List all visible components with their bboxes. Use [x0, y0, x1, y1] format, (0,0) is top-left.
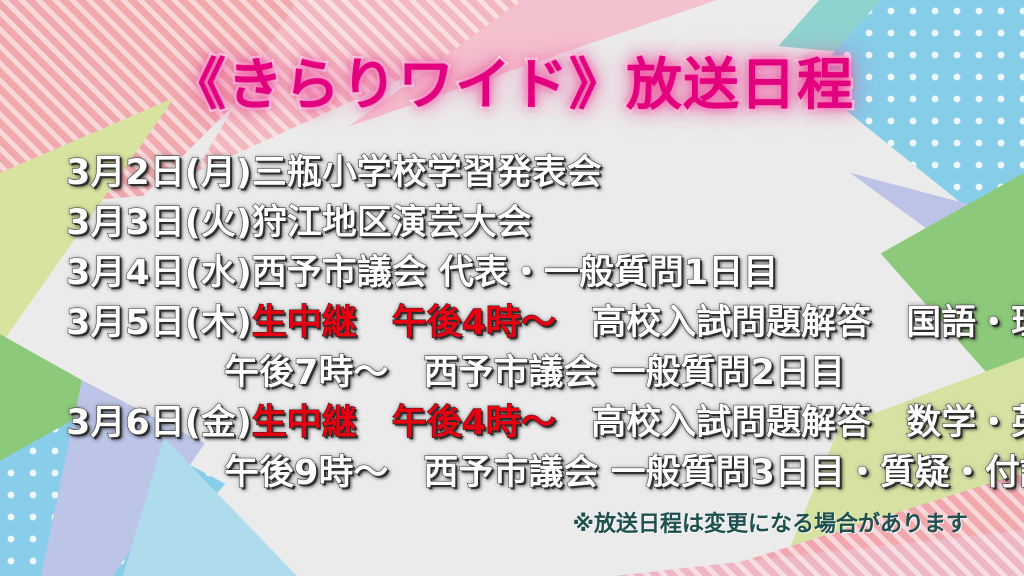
schedule-line: 3月5日(木)生中継 午後4時〜 高校入試問題解答 国語・理科・社会	[0, 298, 1024, 348]
schedule-line: 午後7時〜 西予市議会 一般質問2日目	[0, 348, 1024, 398]
page-title: 《きらりワイド》放送日程	[0, 40, 1024, 121]
schedule-text: 3月3日(火)狩江地区演芸大会	[66, 203, 532, 243]
schedule-line: 3月2日(月)三瓶小学校学習発表会	[0, 148, 1024, 198]
schedule-text: 3月5日(木)	[66, 303, 252, 343]
broadcast-schedule-slide: 《きらりワイド》放送日程 3月2日(月)三瓶小学校学習発表会3月3日(火)狩江地…	[0, 0, 1024, 576]
schedule-text: 3月2日(月)三瓶小学校学習発表会	[66, 153, 602, 193]
schedule-line: 3月4日(水)西予市議会 代表・一般質問1日目	[0, 248, 1024, 298]
live-broadcast-label: 生中継 午後4時〜	[252, 303, 556, 343]
footnote-note: ※放送日程は変更になる場合があります	[573, 506, 968, 538]
schedule-line: 3月6日(金)生中継 午後4時〜 高校入試問題解答 数学・英語	[0, 398, 1024, 448]
schedule-text: 3月4日(水)西予市議会 代表・一般質問1日目	[66, 253, 778, 293]
schedule-text: 午後9時〜 西予市議会 一般質問3日目・質疑・付託	[224, 453, 1024, 493]
schedule-text: 午後7時〜 西予市議会 一般質問2日目	[224, 353, 845, 393]
schedule-text: 高校入試問題解答 数学・英語	[556, 403, 1024, 443]
schedule-text: 3月6日(金)	[66, 403, 252, 443]
schedule-line: 午後9時〜 西予市議会 一般質問3日目・質疑・付託	[0, 448, 1024, 498]
live-broadcast-label: 生中継 午後4時〜	[252, 403, 556, 443]
schedule-line: 3月3日(火)狩江地区演芸大会	[0, 198, 1024, 248]
schedule-list: 3月2日(月)三瓶小学校学習発表会3月3日(火)狩江地区演芸大会3月4日(水)西…	[0, 148, 1024, 498]
schedule-text: 高校入試問題解答 国語・理科・社会	[556, 303, 1024, 343]
